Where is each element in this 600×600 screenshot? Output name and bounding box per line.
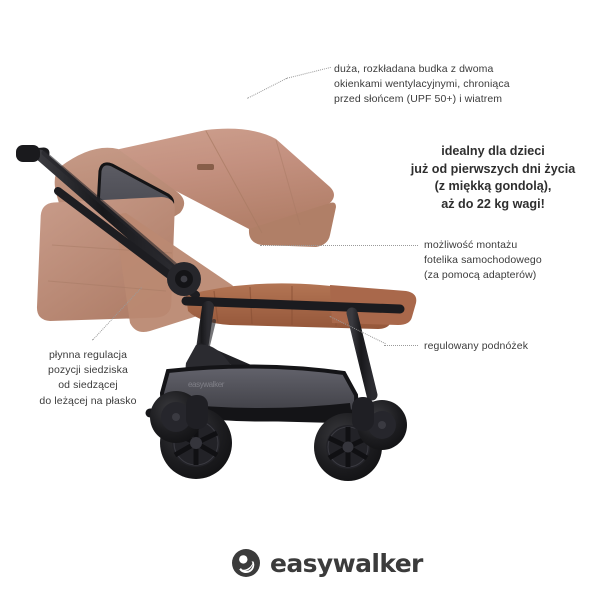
headline-text: idealny dla dzieci już od pierwszych dni…: [390, 143, 596, 213]
leader-line-carseat: [260, 245, 418, 246]
brand-logo: easywalker: [231, 548, 423, 578]
product-infographic: easywalker: [0, 0, 600, 600]
leader-line-footrest: [384, 345, 418, 346]
svg-text:easywalker: easywalker: [188, 380, 225, 389]
logo-wordmark: easywalker: [270, 549, 423, 578]
callout-footrest: regulowany podnóżek: [424, 339, 594, 354]
callout-recline: płynna regulacja pozycji siedziska od si…: [18, 348, 158, 409]
callout-canopy: duża, rozkładana budka z dwoma okienkami…: [334, 62, 584, 108]
callout-car-seat-adapters: możliwość montażu fotelika samochodowego…: [424, 238, 594, 284]
easywalker-circle-icon: [231, 548, 261, 578]
leader-line-canopy: [286, 67, 331, 79]
